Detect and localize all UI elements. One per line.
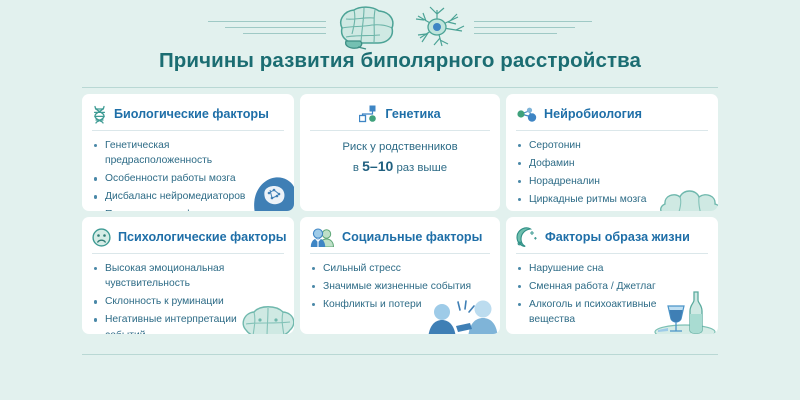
card-header: Нейробиология bbox=[516, 102, 708, 126]
list-item: Алкоголь и психоактивные вещества bbox=[516, 297, 697, 328]
card-social-factors[interactable]: Социальные факторы Сильный стресс Значим… bbox=[300, 217, 500, 334]
list-item: Перинатальные факторы bbox=[92, 207, 273, 211]
list-item: Норадреналин bbox=[516, 174, 697, 189]
bullet-list: Сильный стресс Значимые жизненные событи… bbox=[310, 261, 490, 312]
header: Причины развития биполярного расстройств… bbox=[0, 0, 800, 82]
people-icon bbox=[310, 228, 335, 247]
bullet-list: Нарушение сна Сменная работа / Джетлаг А… bbox=[516, 261, 708, 328]
card-biological-factors[interactable]: Биологические факторы Генетическая предр… bbox=[82, 94, 294, 211]
genetics-stat-line1: Риск у родственников bbox=[310, 138, 490, 157]
card-title: Генетика bbox=[385, 107, 440, 121]
card-header-divider bbox=[516, 253, 708, 254]
bullet-list: Генетическая предрасположенность Особенн… bbox=[92, 138, 284, 211]
list-item: Высокая эмоциональная чувствительность bbox=[92, 261, 273, 292]
list-item: Циркадные ритмы мозга bbox=[516, 192, 697, 207]
card-header: Биологические факторы bbox=[92, 102, 284, 126]
list-item: Склонность к руминации bbox=[92, 294, 273, 309]
card-header: Социальные факторы bbox=[310, 225, 490, 249]
sad-face-icon bbox=[92, 228, 111, 247]
title-divider bbox=[82, 87, 718, 88]
page-title: Причины развития биполярного расстройств… bbox=[0, 49, 800, 73]
card-title: Социальные факторы bbox=[342, 230, 482, 244]
list-item: Нарушение сна bbox=[516, 261, 697, 276]
dna-icon bbox=[92, 105, 107, 124]
list-item: Серотонин bbox=[516, 138, 697, 153]
cards-grid: Биологические факторы Генетическая предр… bbox=[82, 94, 718, 334]
card-title: Психологические факторы bbox=[118, 230, 287, 244]
list-item: Дофамин bbox=[516, 156, 697, 171]
card-header-divider bbox=[92, 130, 284, 131]
list-item: Сильный стресс bbox=[310, 261, 490, 276]
list-item: Дисбаланс нейромедиаторов bbox=[92, 189, 273, 204]
card-header: Психологические факторы bbox=[92, 225, 284, 249]
stat-suffix: раз выше bbox=[393, 162, 447, 174]
hero-left-lines bbox=[208, 21, 326, 34]
pedigree-icon bbox=[359, 105, 378, 123]
card-header-divider bbox=[516, 130, 708, 131]
stat-value: 5–10 bbox=[362, 158, 393, 174]
card-genetics[interactable]: Генетика Риск у родственников в 5–10 раз… bbox=[300, 94, 500, 211]
card-header-divider bbox=[310, 253, 490, 254]
hero-illustration bbox=[0, 2, 800, 52]
card-title: Нейробиология bbox=[544, 107, 642, 121]
list-item: Генетическая предрасположенность bbox=[92, 138, 273, 169]
card-psychological-factors[interactable]: Психологические факторы Высокая эмоциона… bbox=[82, 217, 294, 334]
list-item: Значимые жизненные события bbox=[310, 279, 490, 294]
list-item: Негативные интерпретации событий bbox=[92, 312, 273, 334]
card-title: Биологические факторы bbox=[114, 107, 269, 121]
molecule-icon bbox=[516, 106, 537, 123]
list-item: Особенности работы мозга bbox=[92, 171, 273, 186]
genetics-stat-line2: в 5–10 раз выше bbox=[310, 157, 490, 178]
genetics-stat: Риск у родственников в 5–10 раз выше bbox=[310, 138, 490, 178]
card-neurobiology[interactable]: Нейробиология Серотонин Дофамин Норадрен… bbox=[506, 94, 718, 211]
card-title: Факторы образа жизни bbox=[545, 230, 690, 244]
moon-icon bbox=[516, 227, 538, 247]
list-item: Конфликты и потери bbox=[310, 297, 490, 312]
stat-prefix: в bbox=[353, 162, 362, 174]
brain-illustration bbox=[330, 4, 400, 50]
card-header: Генетика bbox=[310, 102, 490, 126]
card-header: Факторы образа жизни bbox=[516, 225, 708, 249]
bottom-divider bbox=[82, 354, 718, 355]
card-header-divider bbox=[92, 253, 284, 254]
card-lifestyle-factors[interactable]: Факторы образа жизни Нарушение сна Сменн… bbox=[506, 217, 718, 334]
list-item: Сменная работа / Джетлаг bbox=[516, 279, 697, 294]
card-header-divider bbox=[310, 130, 490, 131]
bullet-list: Высокая эмоциональная чувствительность С… bbox=[92, 261, 284, 334]
hero-right-lines bbox=[474, 21, 592, 34]
neuron-illustration bbox=[404, 4, 470, 50]
bullet-list: Серотонин Дофамин Норадреналин Циркадные… bbox=[516, 138, 708, 207]
